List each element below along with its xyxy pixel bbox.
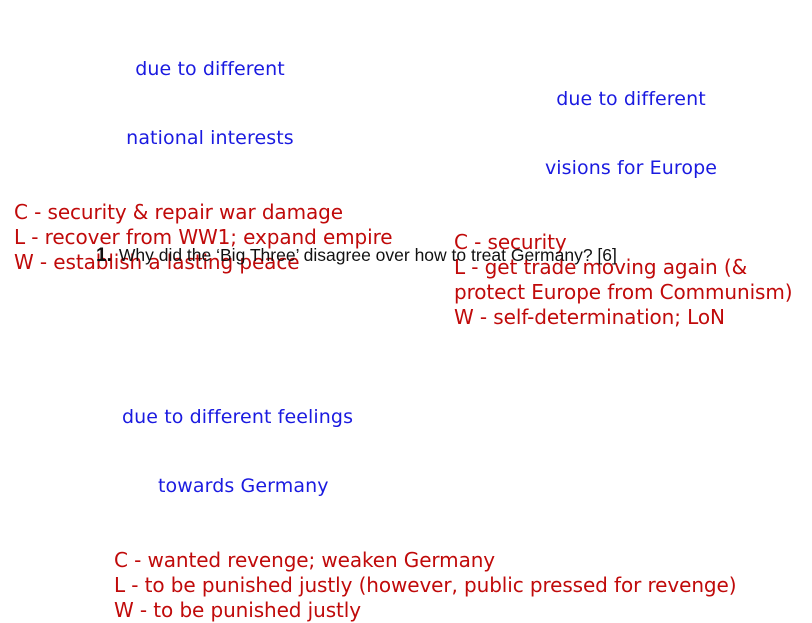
question-text: Why did the ‘Big Three’ disagree over ho… — [119, 245, 617, 266]
annotation-block-feelings-towards-germany: due to different feelings towards German… — [110, 360, 760, 623]
worksheet-page: due to different national interests C - … — [0, 0, 812, 513]
annotation-point-stalin: L - to be punished justly (however, publ… — [114, 573, 760, 598]
annotation-point-wilson: W - to be punished justly — [114, 598, 760, 623]
annotation-heading-feelings-towards-germany: due to different feelings towards German… — [110, 360, 760, 544]
annotation-heading-line-2: national interests — [10, 127, 410, 150]
annotation-heading-line-1: due to different — [10, 58, 410, 81]
annotation-point-wilson: W - self-determination; LoN — [454, 305, 810, 330]
annotation-heading-line-1: due to different — [452, 88, 810, 111]
annotation-block-visions-for-europe: due to different visions for Europe C - … — [452, 42, 810, 330]
annotation-heading-line-2: visions for Europe — [452, 157, 810, 180]
annotation-heading-line-2: towards Germany — [122, 475, 329, 498]
annotation-heading-line-1: due to different feelings — [122, 406, 760, 429]
annotation-heading-visions-for-europe: due to different visions for Europe — [452, 42, 810, 226]
annotation-heading-national-interests: due to different national interests — [10, 12, 410, 196]
annotation-point-churchill: C - wanted revenge; weaken Germany — [114, 548, 760, 573]
annotation-points-feelings-towards-germany: C - wanted revenge; weaken Germany L - t… — [110, 548, 760, 623]
exam-question: 1. Why did the ‘Big Three’ disagree over… — [96, 245, 617, 267]
annotation-block-national-interests: due to different national interests C - … — [10, 12, 410, 275]
annotation-point-stalin-continued: protect Europe from Communism) — [454, 280, 810, 305]
annotation-point-churchill: C - security & repair war damage — [14, 200, 410, 225]
question-number: 1. — [96, 245, 112, 267]
